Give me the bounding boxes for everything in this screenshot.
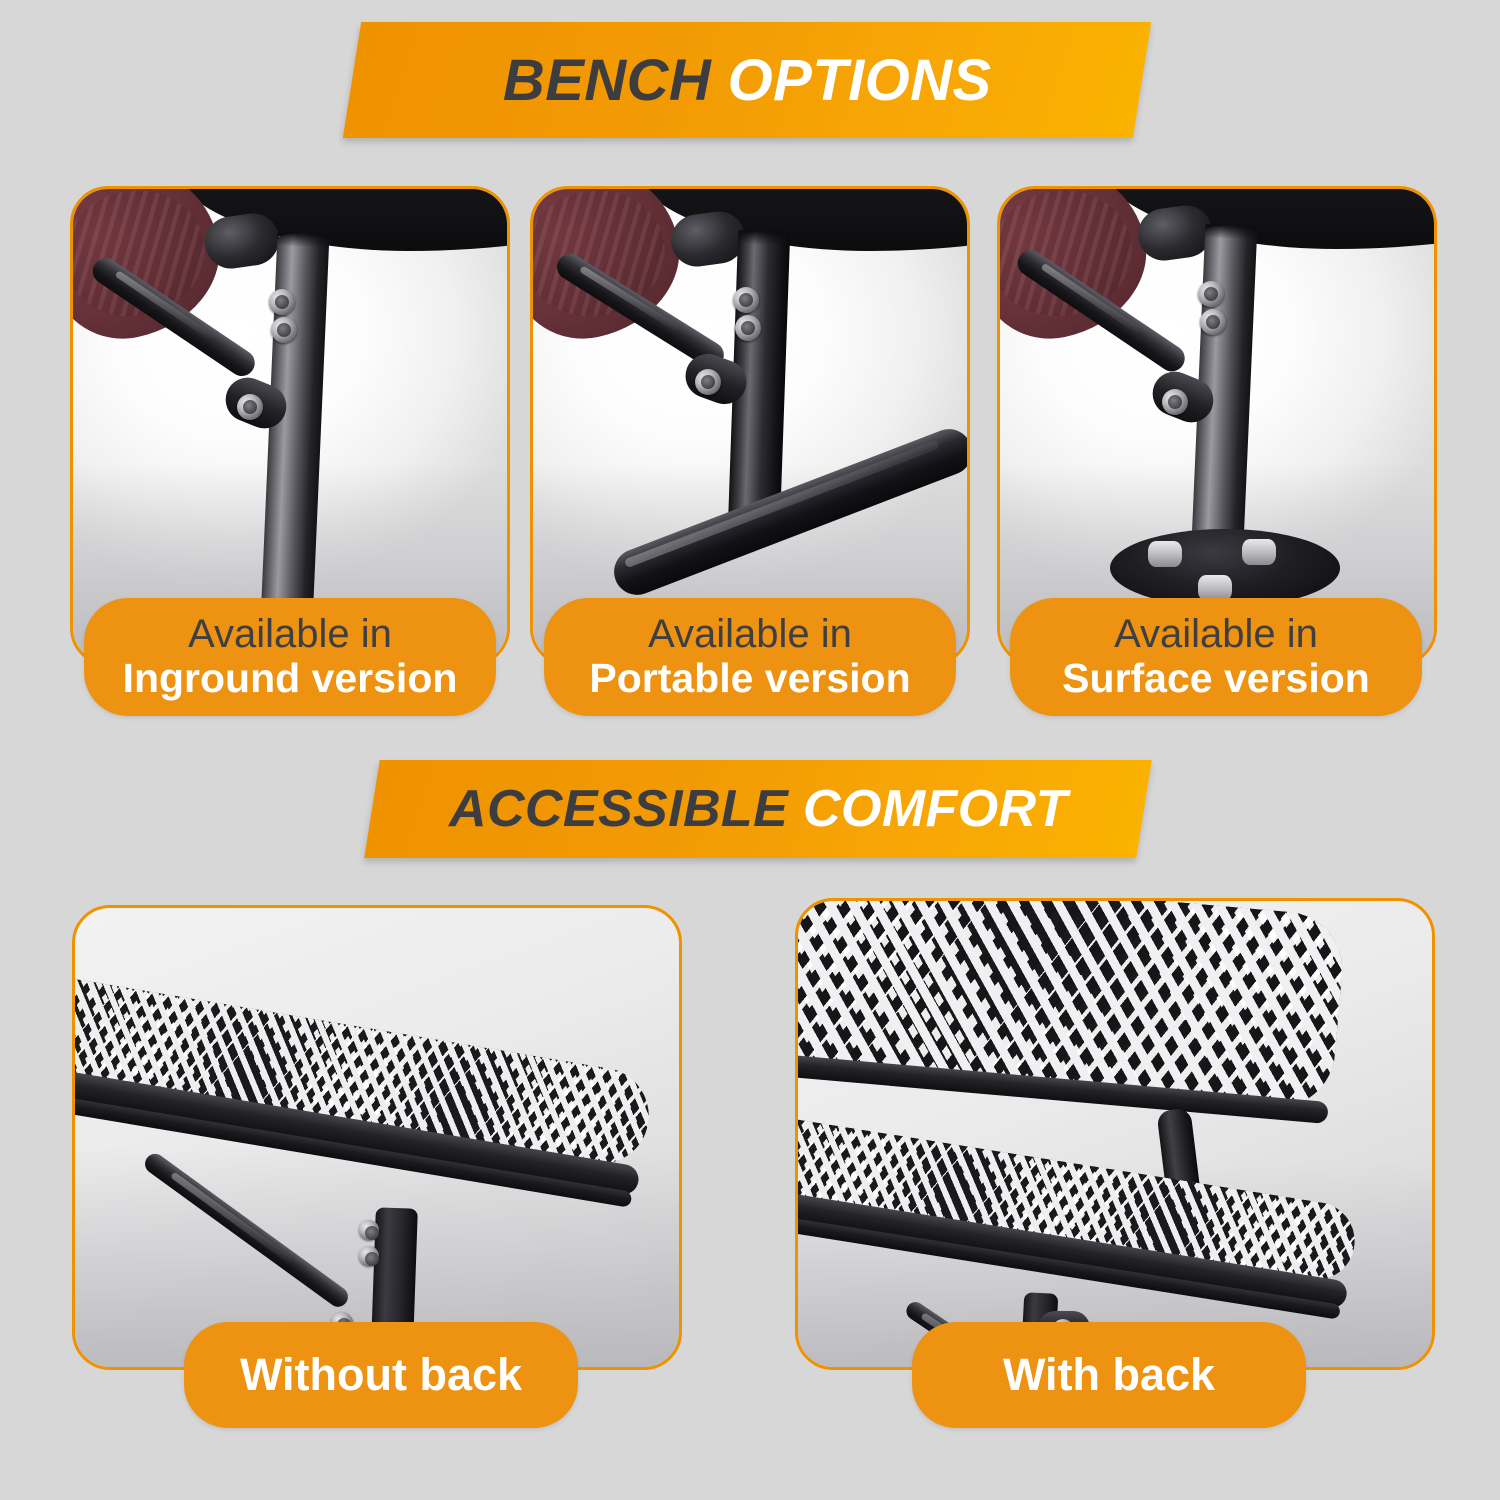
anchor-bolt-left bbox=[1148, 541, 1182, 567]
card-without-back-image bbox=[75, 908, 679, 1367]
banner-accessible-comfort-text: ACCESSIBLE COMFORT bbox=[449, 779, 1068, 839]
caption-inground-line2: Inground version bbox=[123, 656, 458, 702]
leg-bolt-lower bbox=[735, 315, 761, 341]
card-inground-image bbox=[73, 189, 507, 663]
card-without-back[interactable] bbox=[72, 905, 682, 1370]
banner-bench-options-light-word: OPTIONS bbox=[727, 48, 991, 113]
banner-bench-options-dark-word: BENCH bbox=[503, 48, 711, 113]
leg-bolt-upper bbox=[733, 287, 759, 313]
leg-bolt-lower bbox=[271, 317, 297, 343]
card-inground[interactable] bbox=[70, 186, 510, 666]
caption-inground: Available in Inground version bbox=[84, 598, 496, 716]
caption-surface-line1: Available in bbox=[1114, 612, 1318, 657]
card-surface[interactable] bbox=[997, 186, 1437, 666]
caption-without-back-label: Without back bbox=[240, 1350, 522, 1400]
leg-bolt-lower bbox=[1200, 309, 1226, 335]
caption-with-back-label: With back bbox=[1003, 1350, 1215, 1400]
card-with-back[interactable] bbox=[795, 898, 1435, 1370]
banner-accessible-comfort-light-word: COMFORT bbox=[803, 780, 1068, 838]
caption-portable-line1: Available in bbox=[648, 612, 852, 657]
caption-surface-line2: Surface version bbox=[1062, 656, 1370, 702]
banner-bench-options-text: BENCH OPTIONS bbox=[503, 47, 992, 114]
caption-portable-line2: Portable version bbox=[589, 656, 910, 702]
anchor-bolt-right bbox=[1242, 539, 1276, 565]
caption-inground-line1: Available in bbox=[188, 612, 392, 657]
caption-surface: Available in Surface version bbox=[1010, 598, 1422, 716]
brace-pivot-bolt bbox=[1162, 389, 1188, 415]
card-surface-image bbox=[1000, 189, 1434, 663]
brace-pivot-bolt bbox=[695, 369, 721, 395]
card-portable[interactable] bbox=[530, 186, 970, 666]
bench-backrest-assembly bbox=[798, 901, 1387, 1150]
banner-accessible-comfort: ACCESSIBLE COMFORT bbox=[364, 760, 1152, 858]
brace-pivot-bolt bbox=[237, 394, 263, 420]
seat-leg-bolt-lower bbox=[359, 1246, 379, 1266]
leg-bolt-upper bbox=[1198, 281, 1224, 307]
banner-accessible-comfort-dark-word: ACCESSIBLE bbox=[449, 780, 788, 838]
banner-bench-options: BENCH OPTIONS bbox=[343, 22, 1151, 138]
leg-bolt-upper bbox=[269, 289, 295, 315]
card-with-back-image bbox=[798, 901, 1432, 1367]
card-portable-image bbox=[533, 189, 967, 663]
caption-with-back: With back bbox=[912, 1322, 1306, 1428]
caption-without-back: Without back bbox=[184, 1322, 578, 1428]
caption-portable: Available in Portable version bbox=[544, 598, 956, 716]
seat-leg-bolt-upper bbox=[359, 1220, 379, 1240]
